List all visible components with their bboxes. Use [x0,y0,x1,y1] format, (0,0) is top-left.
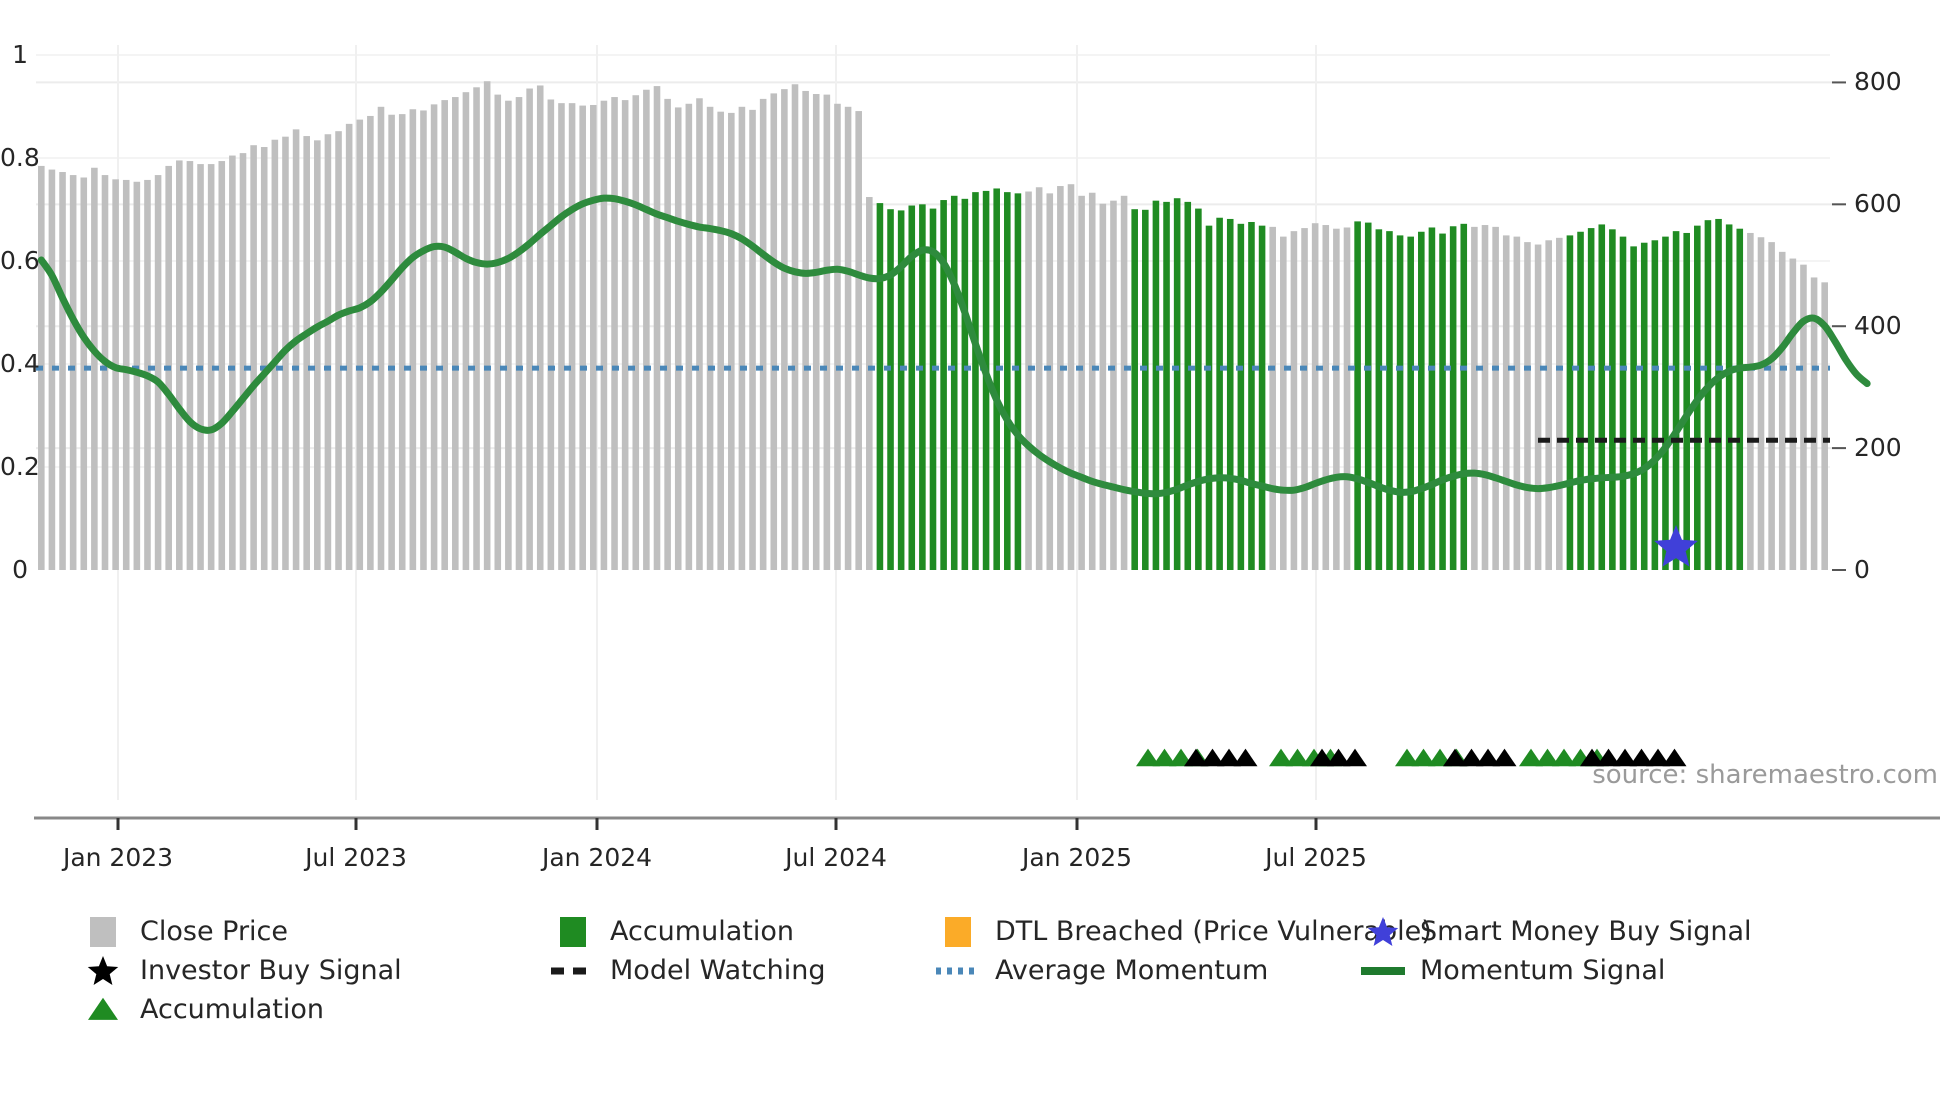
close-price-bar [792,84,799,570]
accumulation-bar [1460,224,1467,570]
close-price-bar [1790,259,1797,570]
close-price-bar [484,81,491,570]
close-price-bar [1471,227,1478,570]
close-price-bar [80,178,87,571]
close-price-bar [802,91,809,570]
legend-item-investor-buy-signal[interactable]: Investor Buy Signal [80,953,550,989]
close-price-bar [717,112,724,570]
accumulation-bar [1620,237,1627,570]
y-axis-left-label: 1 [0,42,28,67]
close-price-bar [229,156,236,570]
accumulation-bar [1673,231,1680,570]
close-price-bar [1068,184,1075,570]
accumulation-marker-triangle-icon [85,994,121,1026]
accumulation-bar [1142,210,1149,570]
close-price-bar [399,114,406,570]
accumulation-bar [887,209,894,570]
close-price-bar [420,110,427,570]
close-price-bar [516,97,523,570]
x-axis-label: Jul 2025 [1265,843,1367,872]
accumulation-bar [1567,235,1574,570]
close-price-bar [664,99,671,570]
accumulation-bar [1163,202,1170,570]
close-price-bar [1110,201,1117,570]
close-price-bar [813,94,820,570]
accumulation-bar [1365,223,1372,570]
close-price-bar [1800,265,1807,570]
accumulation-bar [1662,237,1669,570]
accumulation-bar [1450,226,1457,570]
close-price-bar [1535,245,1542,570]
close-price-bar [356,120,363,570]
close-price-bar [112,179,119,570]
y-axis-right-label: 200 [1854,435,1902,460]
close-price-bar [91,168,98,570]
close-price-bar [187,161,194,570]
close-price-bar [1301,228,1308,570]
close-price-bar [622,100,629,570]
close-price-bar [1492,227,1499,570]
close-price-bar [601,101,608,570]
accumulation-bar [1238,224,1245,570]
close-price-bar [123,180,130,570]
accumulation-bar [1184,202,1191,570]
legend-item-average-momentum[interactable]: Average Momentum [935,957,1360,984]
dtl-breached-swatch-icon [945,917,971,947]
x-axis-label: Jul 2024 [785,843,887,872]
close-price-swatch-icon [90,917,116,947]
legend-row: Close PriceAccumulationDTL Breached (Pri… [80,912,1940,951]
y-axis-left-label: 0 [0,557,28,582]
close-price-bar [558,103,565,570]
close-price-bar [1057,186,1064,570]
close-price-bar [739,107,746,570]
accumulation-bar [1609,229,1616,570]
accumulation-bar [1376,229,1383,570]
accumulation-bar [919,204,926,570]
close-price-bar [1556,238,1563,570]
accumulation-bar [1598,224,1605,570]
accumulation-bar [1641,243,1648,570]
legend-label: Investor Buy Signal [140,957,402,984]
close-price-bar [632,95,639,570]
close-price-bar [579,106,586,570]
close-price-bar [1078,196,1085,570]
close-price-bar [1089,193,1096,570]
source-watermark: source: sharemaestro.com [1592,760,1938,790]
close-price-bar [611,97,618,570]
investor-buy-triangle-marker [1493,749,1517,767]
close-price-bar [1036,187,1043,570]
accumulation-bar [951,196,958,570]
close-price-bar [1503,235,1510,570]
y-axis-left-label: 0.8 [0,145,28,170]
accumulation-bar [993,188,1000,570]
close-price-bar [1322,225,1329,570]
legend-label: Close Price [140,918,288,945]
accumulation-bar [1153,201,1160,570]
close-price-bar [473,87,480,570]
smart-money-buy-signal-star-icon [1365,914,1401,950]
close-price-bar [1046,193,1053,570]
accumulation-bar [1439,234,1446,570]
legend-item-close-price[interactable]: Close Price [80,917,550,947]
close-price-bar [452,97,459,570]
close-price-bar [378,107,385,570]
accumulation-bar [1715,219,1722,570]
legend-label: Accumulation [610,918,794,945]
accumulation-bar [1216,218,1223,570]
close-price-bar [441,100,448,570]
smart-money-buy-signal-swatch [1360,914,1406,950]
accumulation-bar [1736,229,1743,570]
price-bars [38,81,1828,570]
close-price-bar [463,92,470,570]
close-price-bar [505,101,512,570]
x-axis-label: Jul 2023 [305,843,407,872]
momentum-chart: 00.20.40.60.81 0200400600800 Jan 2023Jul… [0,0,1960,1102]
close-price-bar [176,160,183,570]
close-price-bar [1545,240,1552,570]
close-price-swatch [80,917,126,947]
accumulation-bar [1726,224,1733,570]
accumulation-bar [1259,226,1266,570]
close-price-bar [218,161,225,570]
accumulation-bar [1588,228,1595,570]
close-price-bar [240,153,247,570]
legend-label: Average Momentum [995,957,1268,984]
investor-buy-signal-star-shape [88,956,118,985]
momentum-signal-line-icon [1360,962,1406,980]
x-axis-label: Jan 2025 [1022,843,1132,872]
legend-label: Model Watching [610,957,825,984]
x-axis-label: Jan 2023 [63,843,173,872]
legend-label: Accumulation [140,996,324,1023]
y-axis-left-label: 0.2 [0,454,28,479]
close-price-bar [686,104,693,570]
legend-label: Momentum Signal [1420,957,1665,984]
close-price-bar [1100,204,1107,570]
close-price-bar [760,99,767,570]
accumulation-bar [1407,237,1414,570]
y-axis-right-label: 400 [1854,313,1902,338]
close-price-bar [70,175,77,570]
close-price-bar [59,172,66,570]
accumulation-bar [972,192,979,570]
close-price-bar [335,131,342,570]
legend-row: Accumulation [80,990,1940,1029]
accumulation-bar [1429,227,1436,570]
accumulation-marker-swatch [80,994,126,1026]
close-price-bar [855,111,862,570]
momentum-signal-swatch [1360,962,1406,980]
close-price-bar [1524,242,1531,570]
close-price-bar [749,110,756,570]
investor-buy-signal-swatch [80,953,126,989]
close-price-bar [261,147,268,570]
accumulation-bar [1004,192,1011,570]
legend-item-model-watching[interactable]: Model Watching [550,957,935,984]
close-price-bar [834,104,841,570]
accumulation-bar [1206,226,1213,570]
accumulation-bar [1577,232,1584,570]
accumulation-bar [1354,221,1361,570]
average-momentum-swatch [935,962,981,980]
legend-item-accumulation-marker[interactable]: Accumulation [80,994,550,1026]
average-momentum-line-icon [935,962,981,980]
y-axis-left-label: 0.6 [0,248,28,273]
close-price-bar [1747,233,1754,570]
accumulation-bar [1652,240,1659,570]
accumulation-bar [1418,232,1425,570]
accumulation-bar [1131,209,1138,570]
close-price-bar [770,93,777,570]
close-price-bar [1269,227,1276,570]
model-watching-line-icon [550,962,596,980]
legend-item-smart-money-buy-signal[interactable]: Smart Money Buy Signal [1360,914,1780,950]
y-axis-right-label: 600 [1854,191,1902,216]
close-price-bar [1280,237,1287,570]
close-price-bar [303,136,310,570]
close-price-bar [410,109,417,570]
y-axis-left-label: 0.4 [0,351,28,376]
accumulation-bar [1386,231,1393,570]
accumulation-bar [1195,209,1202,570]
dtl-breached-swatch [935,917,981,947]
close-price-bar [696,98,703,570]
accumulation-bar-swatch-icon [560,917,586,947]
legend-item-dtl-breached[interactable]: DTL Breached (Price Vulnerable) [935,917,1360,947]
accumulation-bar [1683,233,1690,570]
accumulation-bar [1015,193,1022,570]
accumulation-bar [930,209,937,570]
close-price-bar [845,107,852,570]
y-axis-right-label: 0 [1854,557,1870,582]
close-price-bar [102,175,109,570]
chart-legend: Close PriceAccumulationDTL Breached (Pri… [80,912,1940,1029]
close-price-bar [569,103,576,570]
close-price-bar [250,145,257,570]
accumulation-bar-swatch [550,917,596,947]
accumulation-bar [1174,198,1181,570]
close-price-bar [346,124,353,570]
accumulation-bar [1630,246,1637,570]
close-price-bar [431,104,438,570]
x-axis-label: Jan 2024 [542,843,652,872]
close-price-bar [1291,231,1298,570]
close-price-bar [1312,223,1319,570]
close-price-bar [1768,242,1775,570]
legend-label: Smart Money Buy Signal [1420,918,1752,945]
close-price-bar [675,107,682,570]
close-price-bar [1121,196,1128,570]
close-price-bar [1758,237,1765,570]
investor-buy-triangle-marker [1343,749,1367,767]
close-price-bar [494,95,501,570]
accumulation-bar [1227,219,1234,570]
smart-money-buy-signal-star-shape [1368,917,1398,946]
investor-buy-signal-star-icon [85,953,121,989]
close-price-bar [728,113,735,570]
accumulation-bar [962,199,969,570]
model-watching-swatch [550,962,596,980]
accumulation-bar [877,203,884,570]
close-price-bar [590,105,597,570]
close-price-bar [654,86,661,570]
close-price-bar [537,85,544,570]
close-price-bar [548,99,555,570]
close-price-bar [526,89,533,570]
legend-item-momentum-signal[interactable]: Momentum Signal [1360,957,1780,984]
close-price-bar [1779,252,1786,570]
accumulation-marker-triangle-shape [88,997,118,1019]
close-price-bar [824,95,831,570]
close-price-bar [155,175,162,570]
close-price-bar [325,134,332,570]
close-price-bar [707,107,714,570]
y-axis-right-label: 800 [1854,69,1902,94]
close-price-bar [1333,229,1340,570]
close-price-bar [1344,227,1351,570]
close-price-bar [866,197,873,570]
accumulation-bar [1248,222,1255,570]
legend-item-accumulation-bar[interactable]: Accumulation [550,917,935,947]
close-price-bar [781,89,788,570]
close-price-bar [1025,192,1032,570]
legend-row: Investor Buy SignalModel WatchingAverage… [80,951,1940,990]
close-price-bar [643,90,650,570]
close-price-bar [1482,225,1489,570]
close-price-bar [1514,237,1521,570]
close-price-bar [314,140,321,570]
accumulation-bar [1397,235,1404,570]
investor-buy-triangle-marker [1234,749,1258,767]
close-price-bar [388,115,395,570]
close-price-bar [293,129,300,570]
close-price-bar [367,116,374,570]
